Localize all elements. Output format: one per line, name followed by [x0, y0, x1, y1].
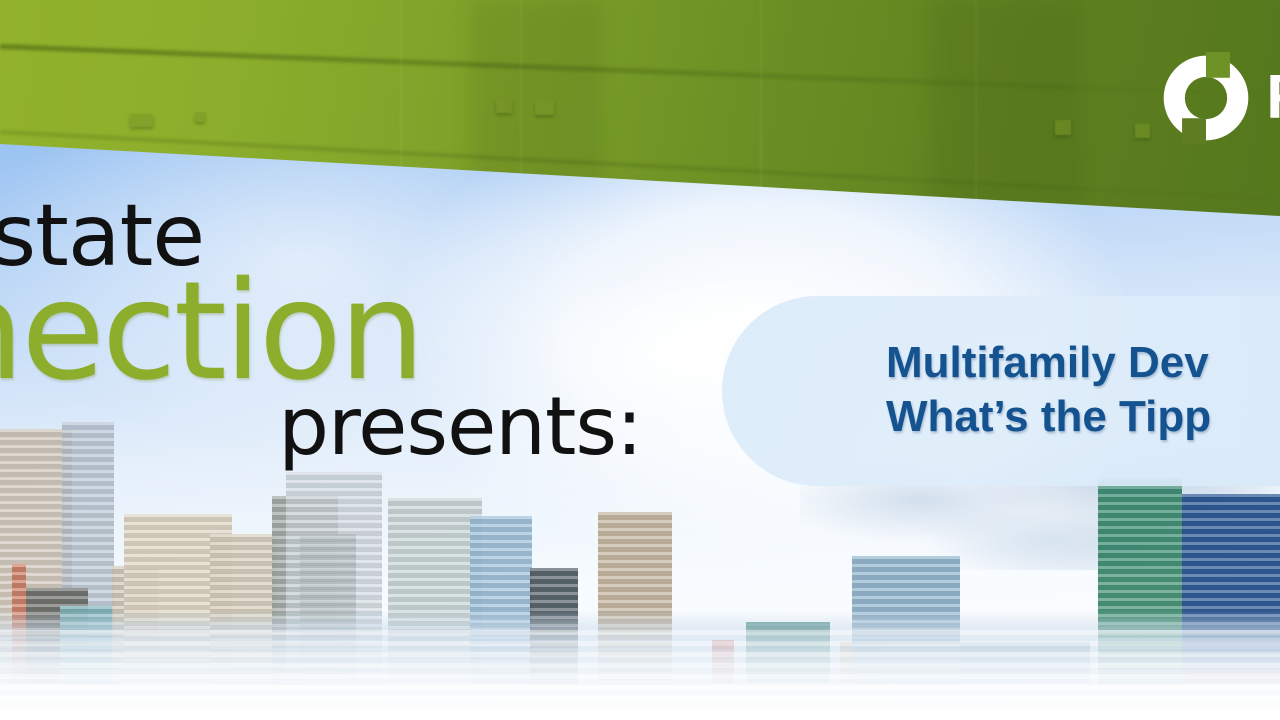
- brand-line-nection: nection: [0, 271, 698, 393]
- bottom-fade: [0, 650, 1280, 720]
- subtitle-line-1: Multifamily Dev: [886, 336, 1280, 390]
- ceiling-fixture: [496, 99, 512, 113]
- ceiling-shadow: [930, 0, 1080, 230]
- ceiling-fixture: [195, 112, 205, 122]
- subtitle-line-2: What’s the Tipp: [886, 390, 1280, 444]
- ceiling-fixture: [535, 100, 554, 115]
- subtitle-text: Multifamily Dev What’s the Tipp: [886, 336, 1280, 443]
- ceiling-fixture: [1135, 124, 1150, 138]
- ceiling-fixture: [1055, 120, 1071, 135]
- brand-lockup: Estate nection presents:: [0, 196, 698, 465]
- connection-ring-logo-icon: [1160, 52, 1252, 144]
- video-title-card: R Estate nection presents: Multifamily D…: [0, 0, 1280, 720]
- logo-wordmark: R: [1266, 67, 1280, 129]
- ceiling-fixture: [130, 114, 153, 127]
- brand-logo: R: [1160, 52, 1280, 144]
- ceiling-seam-upper: [0, 44, 1279, 98]
